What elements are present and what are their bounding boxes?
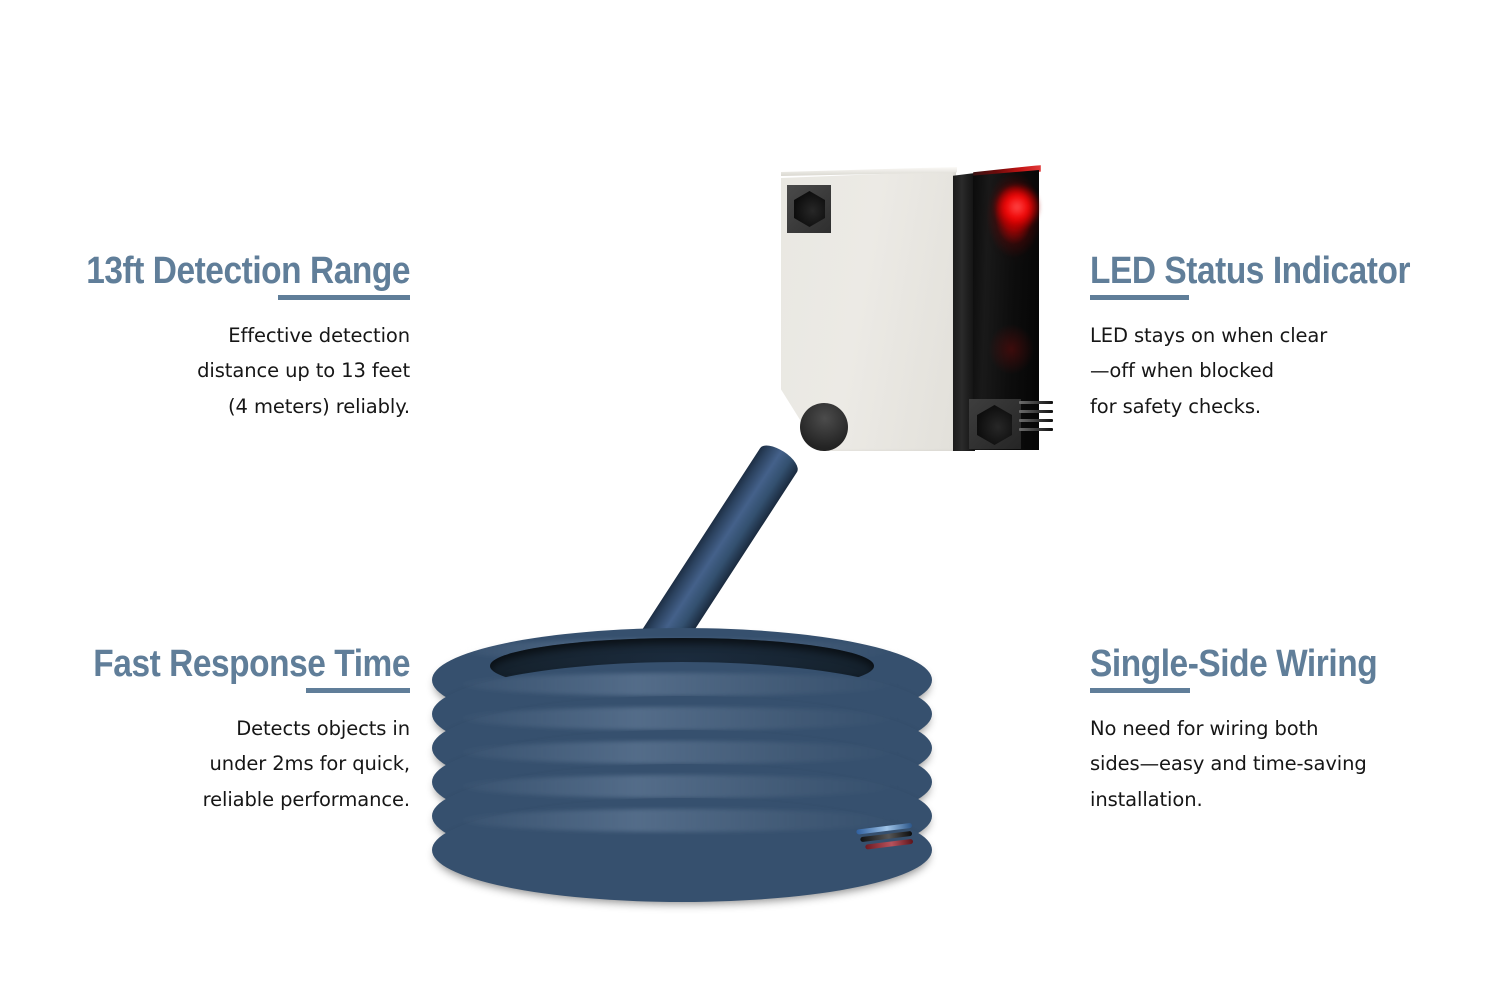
feature-body-line: reliable performance. [10, 782, 410, 817]
vent-slot [1019, 401, 1053, 404]
feature-single-side-wiring: Single-Side Wiring No need for wiring bo… [1090, 645, 1490, 817]
heading-underline [306, 688, 410, 693]
feature-body-line: Detects objects in [10, 711, 410, 746]
cable-coil [432, 628, 932, 913]
black-lead [860, 831, 912, 842]
exposed-wire-leads [856, 823, 918, 864]
feature-body-line: —off when blocked [1090, 353, 1490, 388]
vent-slots [1019, 401, 1053, 449]
feature-body: No need for wiring both sides—easy and t… [1090, 711, 1490, 817]
hex-mounting-hole-bottom-icon [977, 405, 1012, 445]
infographic-page: 13ft Detection Range Effective detection… [0, 0, 1500, 998]
cable-loop [432, 662, 932, 766]
heading-underline [1090, 688, 1190, 693]
vent-slot [1019, 428, 1053, 431]
red-lead [865, 839, 913, 850]
vent-slot [1019, 410, 1053, 413]
mounting-hole-recess-top [787, 185, 831, 233]
feature-body-line: installation. [1090, 782, 1490, 817]
feature-heading: Single-Side Wiring [1090, 645, 1442, 683]
feature-body: Detects objects in under 2ms for quick, … [10, 711, 410, 817]
feature-body-line: sides—easy and time-saving [1090, 746, 1490, 781]
feature-heading: LED Status Indicator [1090, 252, 1442, 290]
sensor-side-strip [953, 173, 975, 451]
cable-loop [432, 696, 932, 800]
blue-lead [856, 823, 912, 835]
cable-loop [432, 764, 932, 868]
vent-slot [1019, 419, 1053, 422]
feature-led-status-indicator: LED Status Indicator LED stays on when c… [1090, 252, 1490, 424]
feature-body-line: (4 meters) reliably. [10, 389, 410, 424]
cable-loop [432, 730, 932, 834]
feature-body-line: distance up to 13 feet [10, 353, 410, 388]
feature-body-line: Effective detection [10, 318, 410, 353]
product-image [0, 0, 1500, 998]
led-indicator-icon [995, 185, 1039, 229]
feature-heading: 13ft Detection Range [58, 252, 410, 290]
feature-heading: Fast Response Time [58, 645, 410, 683]
cable-lead-segment [608, 440, 803, 707]
coil-inner-opening [490, 638, 874, 694]
feature-fast-response-time: Fast Response Time Detects objects in un… [10, 645, 410, 817]
cable-loop [432, 628, 932, 732]
sensor-top-edge [781, 167, 957, 176]
feature-body-line: LED stays on when clear [1090, 318, 1490, 353]
feature-body-line: under 2ms for quick, [10, 746, 410, 781]
heading-underline [278, 295, 410, 300]
mounting-hole-recess-bottom [969, 399, 1021, 449]
feature-body: Effective detection distance up to 13 fe… [10, 318, 410, 424]
sensor-body [781, 171, 956, 451]
feature-detection-range: 13ft Detection Range Effective detection… [10, 252, 410, 424]
cable-loop [432, 798, 932, 902]
feature-body: LED stays on when clear —off when blocke… [1090, 318, 1490, 424]
feature-body-line: No need for wiring both [1090, 711, 1490, 746]
photoelectric-sensor [781, 163, 1051, 453]
cable-gland [792, 395, 857, 460]
sensor-front-face [973, 170, 1039, 450]
heading-underline [1090, 295, 1189, 300]
feature-body-line: for safety checks. [1090, 389, 1490, 424]
sensor-face-top-edge [973, 165, 1041, 177]
hex-mounting-hole-top-icon [794, 191, 825, 227]
